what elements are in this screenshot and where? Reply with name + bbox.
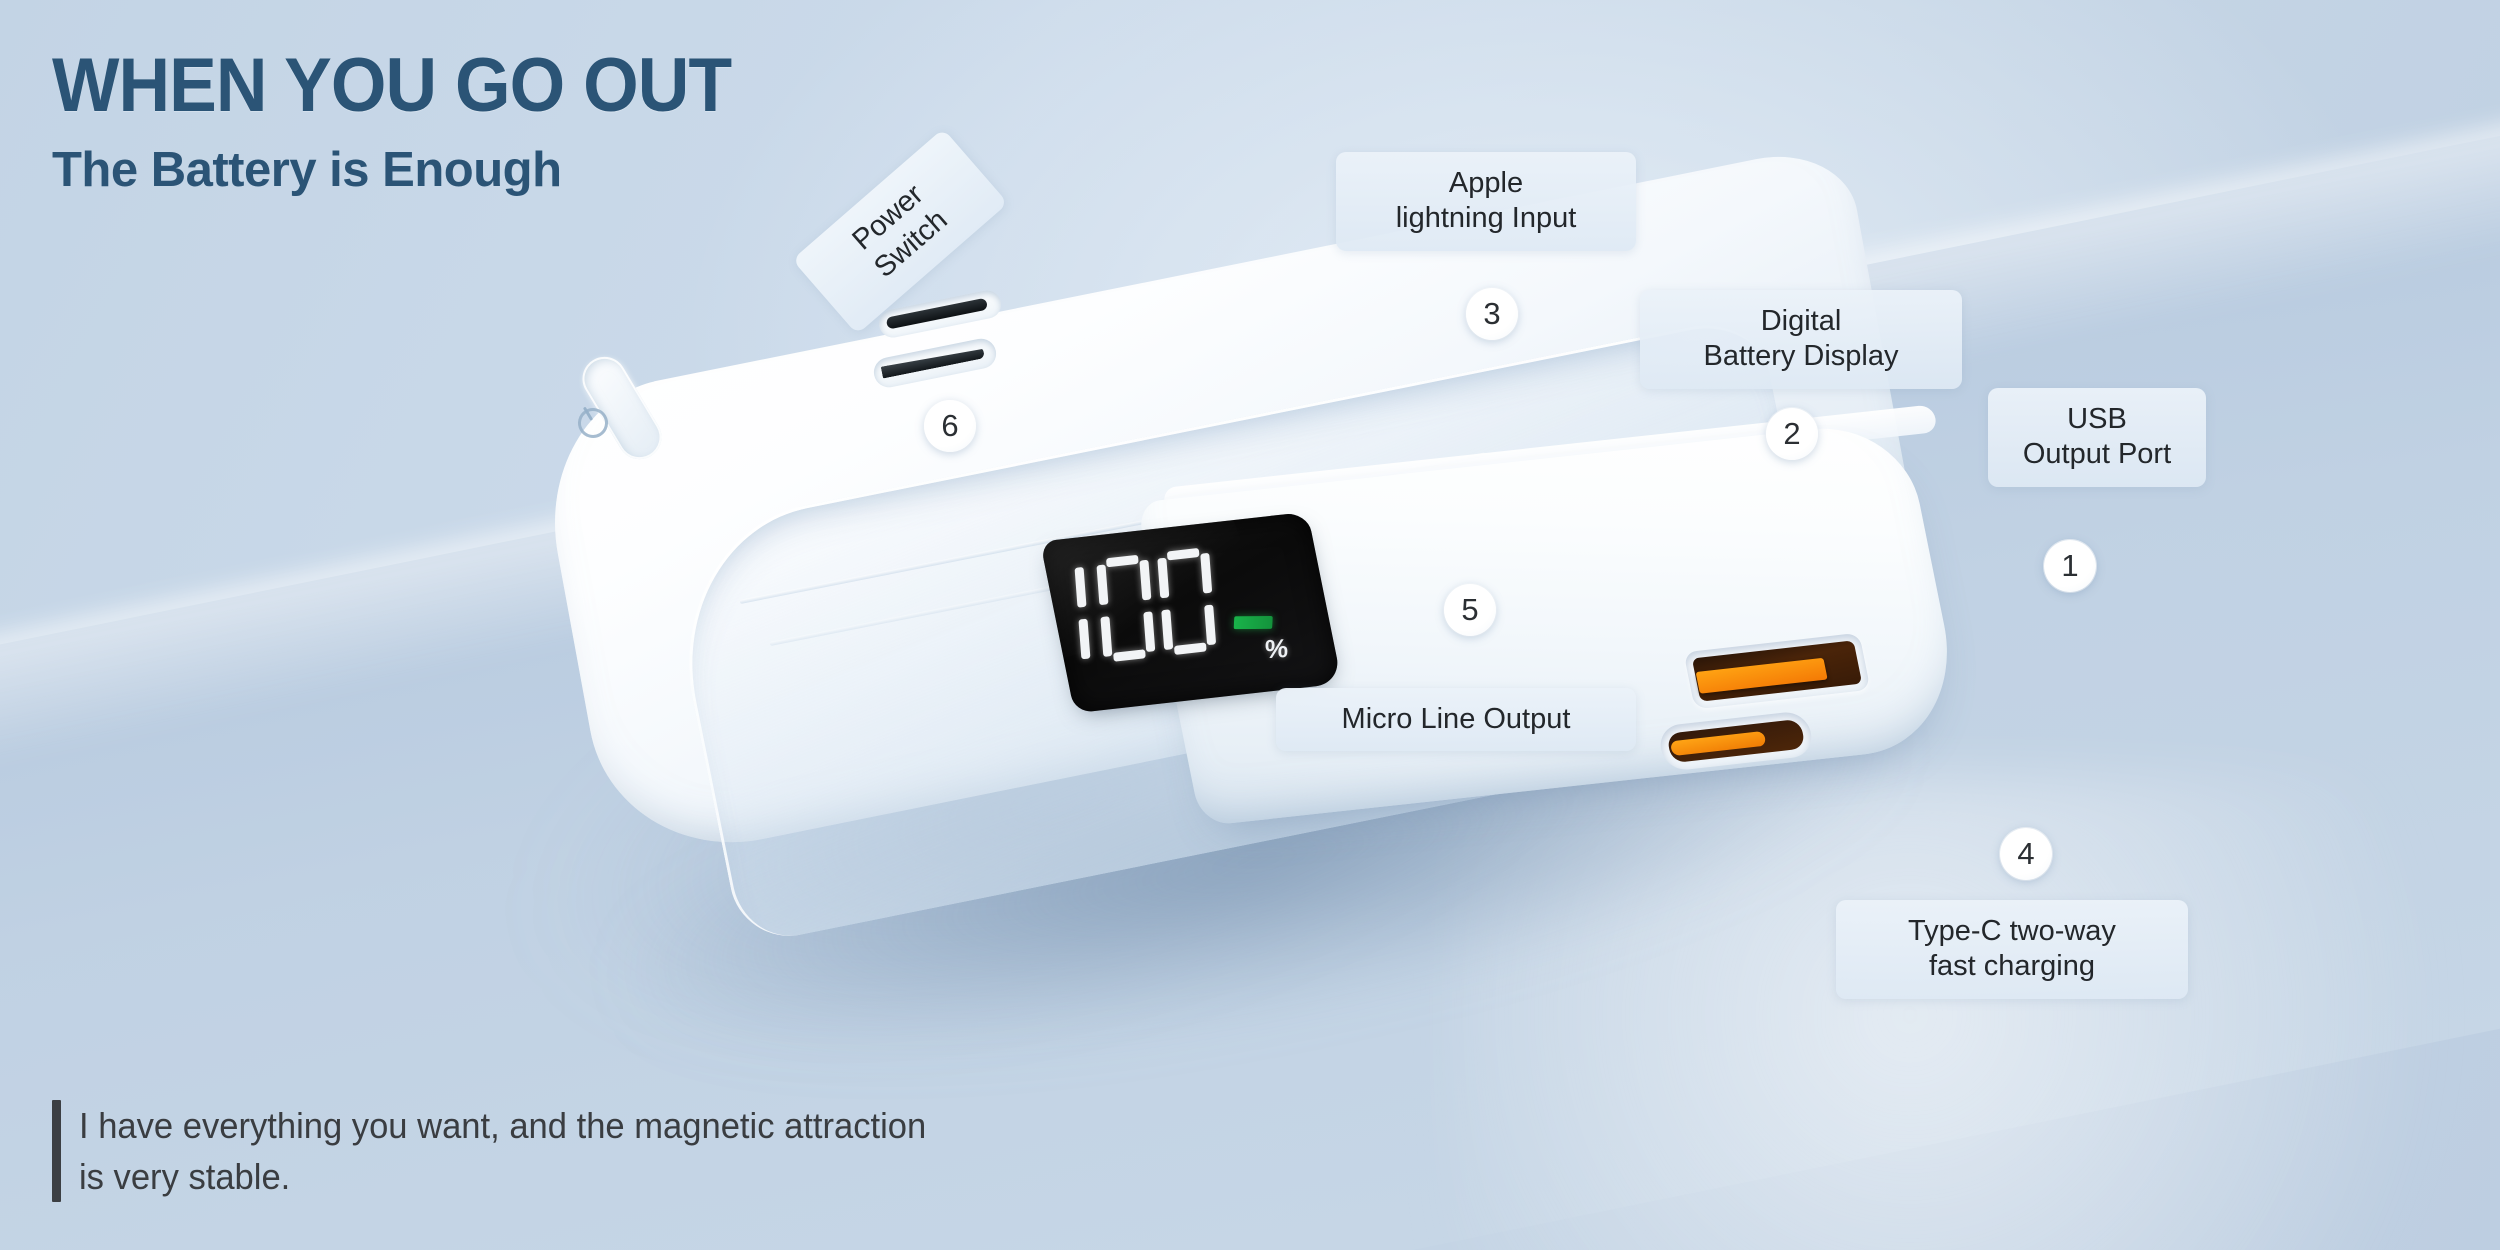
callout-badge-6: 6 — [924, 400, 976, 452]
callout-label-digital-battery-display: Digital Battery Display — [1640, 290, 1962, 389]
infographic-stage: WHEN YOU GO OUT The Battery is Enough — [0, 0, 2500, 1250]
seven-segment-digit — [1157, 547, 1217, 656]
callout-badge-5: 5 — [1444, 584, 1496, 636]
page-title: WHEN YOU GO OUT — [52, 48, 731, 124]
callout-badge-3: 3 — [1466, 288, 1518, 340]
battery-level-indicator — [1234, 616, 1273, 629]
callout-badge-4: 4 — [2000, 828, 2052, 880]
headline-block: WHEN YOU GO OUT The Battery is Enough — [52, 48, 775, 195]
callout-badge-1: 1 — [2044, 540, 2096, 592]
seven-segment-digit — [1096, 554, 1156, 663]
callout-label-type-c-fast-charging: Type-C two-way fast charging — [1836, 900, 2188, 999]
callout-label-micro-line-output: Micro Line Output — [1276, 688, 1636, 751]
page-subtitle: The Battery is Enough — [52, 146, 775, 195]
callout-label-apple-lightning-input: Apple lightning Input — [1336, 152, 1636, 251]
callout-label-usb-output-port: USB Output Port — [1988, 388, 2206, 487]
caption-text: I have everything you want, and the magn… — [79, 1100, 926, 1202]
percent-symbol: % — [1265, 633, 1288, 665]
callout-badge-2: 2 — [1766, 408, 1818, 460]
footer-caption: I have everything you want, and the magn… — [52, 1100, 962, 1202]
battery-percentage-digits — [1069, 547, 1216, 666]
caption-accent-bar — [52, 1100, 61, 1202]
battery-display-screen: % — [1040, 512, 1342, 714]
